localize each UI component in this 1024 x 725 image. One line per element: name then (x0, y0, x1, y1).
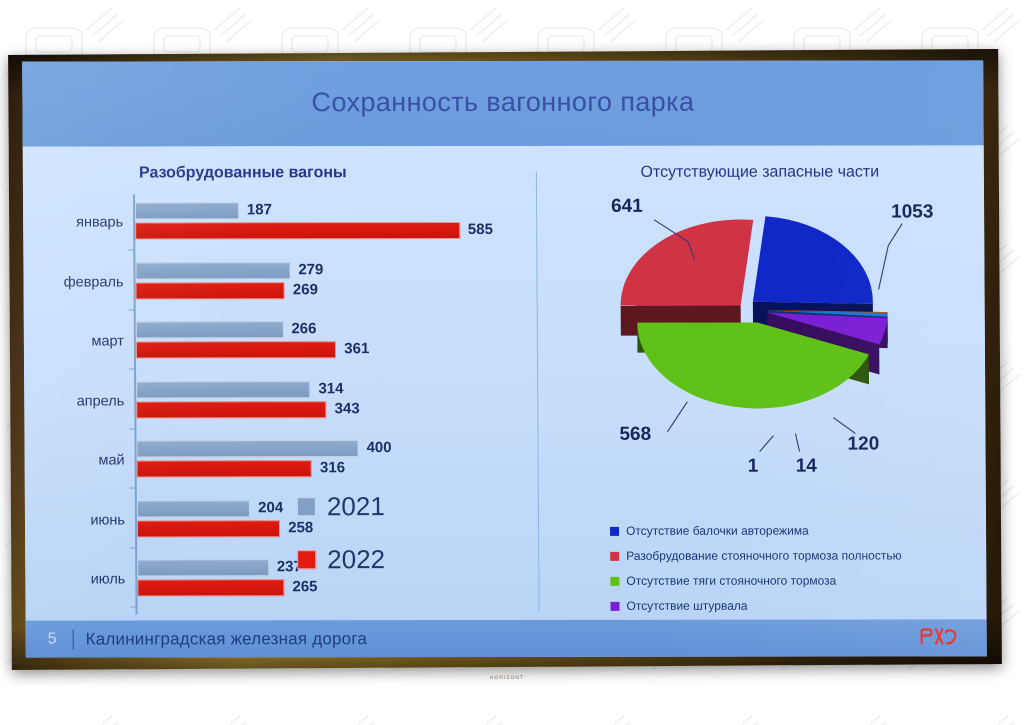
pie-value-label: 120 (847, 434, 879, 456)
legend-swatch-icon (610, 576, 619, 585)
projector-screen-frame: HORIZONT Сохранность вагонного парка Раз… (8, 49, 1002, 670)
legend-label: Отсутствие штурвала (626, 599, 747, 613)
axis-tick (130, 547, 136, 548)
legend-label: Разобрудование стояночного тормоза полно… (626, 549, 901, 563)
bar-category-label: июнь (90, 512, 125, 528)
bar-2021 (136, 381, 310, 398)
pie-chart-title: Отсутствующие запасные части (536, 163, 984, 182)
bar-value-2021: 400 (366, 439, 391, 456)
legend-swatch-icon (297, 497, 316, 516)
bar-category-label: январь (76, 214, 123, 230)
pie-value-label: 14 (796, 456, 817, 478)
bar-category-label: апрель (77, 393, 125, 409)
slide-footer-band: 5 Калининградская железная дорога (26, 619, 987, 657)
pie-value-label: 1 (748, 456, 759, 478)
pie-leader-line (888, 224, 902, 246)
bar-2022 (136, 341, 336, 358)
pie-legend-item: Отсутствие штурвала (610, 599, 901, 613)
pie-leader-line (878, 246, 888, 290)
pie-chart-graphic: 6411053568120114 (536, 183, 986, 474)
bar-2021 (136, 440, 358, 457)
pie-value-label: 1053 (891, 201, 933, 223)
bar-value-2021: 187 (247, 201, 272, 218)
bar-legend-item: 2022 (297, 544, 385, 575)
bar-value-2022: 585 (468, 221, 493, 238)
bar-category-label: июль (91, 571, 126, 587)
pie-leader-line (759, 436, 773, 452)
page-title: Сохранность вагонного парка (22, 86, 983, 118)
bar-chart-title: Разобрудованные вагоны (23, 164, 463, 183)
pie-chart-panel: Отсутствующие запасные части 64110535681… (536, 145, 987, 620)
legend-label: 2021 (327, 491, 385, 522)
bar-value-2021: 204 (258, 499, 283, 516)
bar-2021 (137, 500, 250, 517)
pie-slice-0 (752, 216, 873, 304)
pie-slice-1 (620, 220, 754, 306)
bar-2022 (137, 460, 312, 477)
presentation-slide: Сохранность вагонного парка Разобрудован… (22, 60, 987, 657)
bar-value-2021: 314 (318, 380, 343, 397)
axis-tick (129, 309, 135, 310)
bar-2021 (135, 202, 239, 219)
bar-chart-legend: 20212022 (297, 491, 385, 597)
bar-value-2022: 361 (344, 340, 369, 357)
bar-value-2022: 316 (320, 459, 345, 476)
slide-page-number: 5 (48, 630, 57, 648)
slide-body: Разобрудованные вагоны январь187585февра… (23, 145, 987, 620)
pie-legend-item: Отсутствие тяги стояночного тормоза (610, 574, 901, 588)
legend-label: Отсутствие балочки авторежима (626, 524, 809, 538)
footer-organization: Калининградская железная дорога (86, 629, 368, 649)
bar-2021 (135, 262, 290, 279)
axis-tick (130, 487, 136, 488)
bar-legend-item: 2021 (297, 491, 385, 522)
bar-2022 (136, 401, 326, 418)
pie-legend-item: Разобрудование стояночного тормоза полно… (610, 549, 901, 563)
bar-value-2021: 266 (291, 320, 316, 337)
footer-separator (73, 629, 74, 649)
pie-leader-line (795, 434, 799, 452)
bar-group: март266361 (136, 321, 528, 381)
bar-2021 (137, 559, 269, 576)
legend-label: 2022 (327, 544, 385, 575)
legend-label: Отсутствие тяги стояночного тормоза (626, 574, 836, 588)
bar-category-label: май (98, 452, 124, 468)
pie-chart-svg (536, 183, 986, 474)
bar-category-label: март (91, 333, 124, 349)
bar-2022 (137, 520, 280, 537)
axis-tick (131, 606, 137, 607)
bar-group: февраль279269 (135, 261, 527, 321)
rzd-logo-icon (919, 626, 959, 652)
axis-tick (128, 249, 134, 250)
pie-value-label: 641 (611, 196, 643, 218)
pie-legend-item: Отсутствие балочки авторежима (610, 524, 901, 538)
axis-tick (129, 428, 135, 429)
bar-category-label: февраль (64, 274, 124, 290)
bar-group: январь187585 (135, 202, 527, 262)
pie-leader-line (833, 418, 855, 434)
bar-value-2022: 343 (335, 400, 360, 417)
pie-leader-line (667, 402, 687, 432)
bar-group: апрель314343 (136, 380, 528, 440)
legend-swatch-icon (297, 550, 316, 569)
bar-2022 (136, 282, 285, 299)
bar-value-2022: 269 (293, 281, 318, 298)
bar-value-2021: 279 (298, 261, 323, 278)
bar-2022 (137, 579, 284, 596)
legend-swatch-icon (610, 551, 619, 560)
axis-tick (129, 368, 135, 369)
bar-2021 (136, 321, 284, 338)
legend-swatch-icon (610, 601, 619, 610)
slide-header-band: Сохранность вагонного парка (22, 60, 984, 146)
bar-chart-panel: Разобрудованные вагоны январь187585февра… (23, 146, 539, 621)
bar-2022 (135, 222, 460, 239)
pie-value-label: 568 (619, 424, 651, 446)
legend-swatch-icon (610, 526, 619, 535)
